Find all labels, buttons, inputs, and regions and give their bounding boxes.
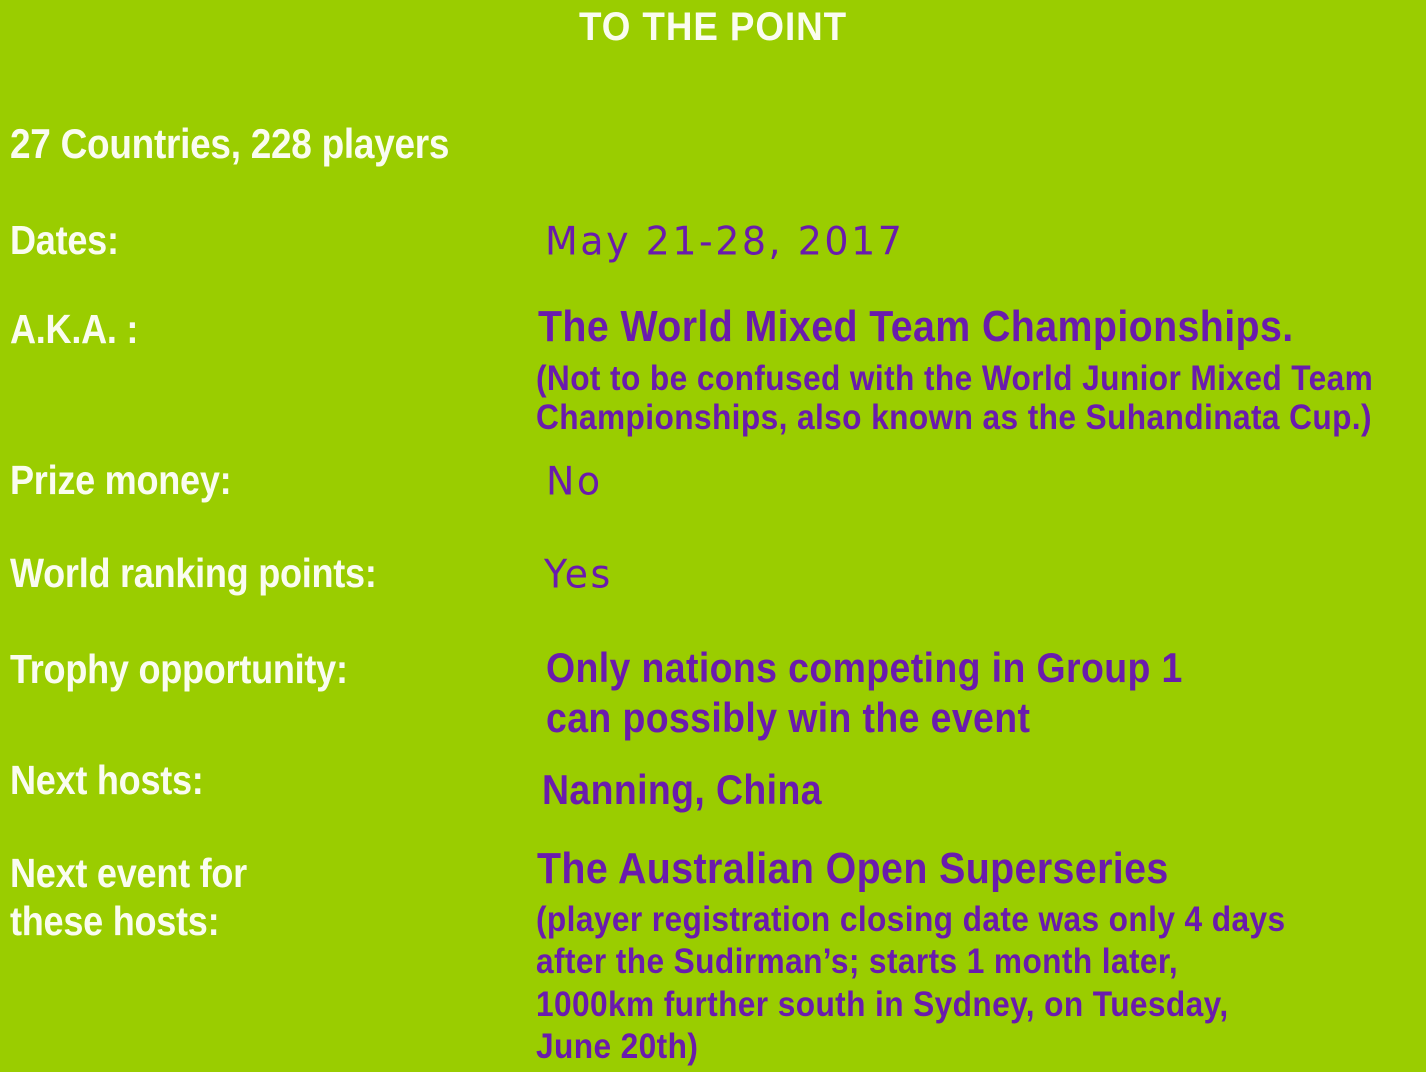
value-aka: The World Mixed Team Championships. — [538, 303, 1294, 351]
value-next-event-note-line3: 1000km further south in Sydney, on Tuesd… — [536, 983, 1229, 1025]
value-next-event-note-line1: (player registration closing date was on… — [536, 898, 1285, 940]
label-aka: A.K.A. : — [10, 305, 138, 353]
label-next-hosts: Next hosts: — [10, 756, 204, 804]
value-aka-note-line2: Championships, also known as the Suhandi… — [536, 396, 1372, 438]
label-next-event-line2: these hosts: — [10, 897, 219, 945]
value-next-event-note-line2: after the Sudirman’s; starts 1 month lat… — [536, 940, 1178, 982]
label-trophy-opportunity: Trophy opportunity: — [10, 645, 348, 693]
value-next-hosts: Nanning, China — [542, 765, 822, 818]
label-world-ranking-points: World ranking points: — [10, 549, 377, 597]
label-next-event-line1: Next event for — [10, 849, 247, 897]
value-prize-money: No — [546, 458, 603, 504]
value-trophy-opportunity-line2: can possibly win the event — [546, 693, 1030, 746]
value-next-event: The Australian Open Superseries — [537, 845, 1169, 893]
value-dates: May 21-28, 2017 — [545, 218, 904, 264]
page-title: TO THE POINT — [57, 5, 1369, 50]
label-dates: Dates: — [10, 216, 119, 264]
value-world-ranking-points: Yes — [544, 551, 613, 597]
value-trophy-opportunity-line1: Only nations competing in Group 1 — [546, 643, 1183, 696]
slide-canvas: TO THE POINT 27 Countries, 228 players D… — [0, 0, 1426, 1072]
label-prize-money: Prize money: — [10, 456, 231, 504]
value-aka-note-line1: (Not to be confused with the World Junio… — [536, 357, 1373, 399]
value-next-event-note-line4: June 20th) — [536, 1025, 698, 1067]
headline-countries-players: 27 Countries, 228 players — [10, 120, 449, 168]
